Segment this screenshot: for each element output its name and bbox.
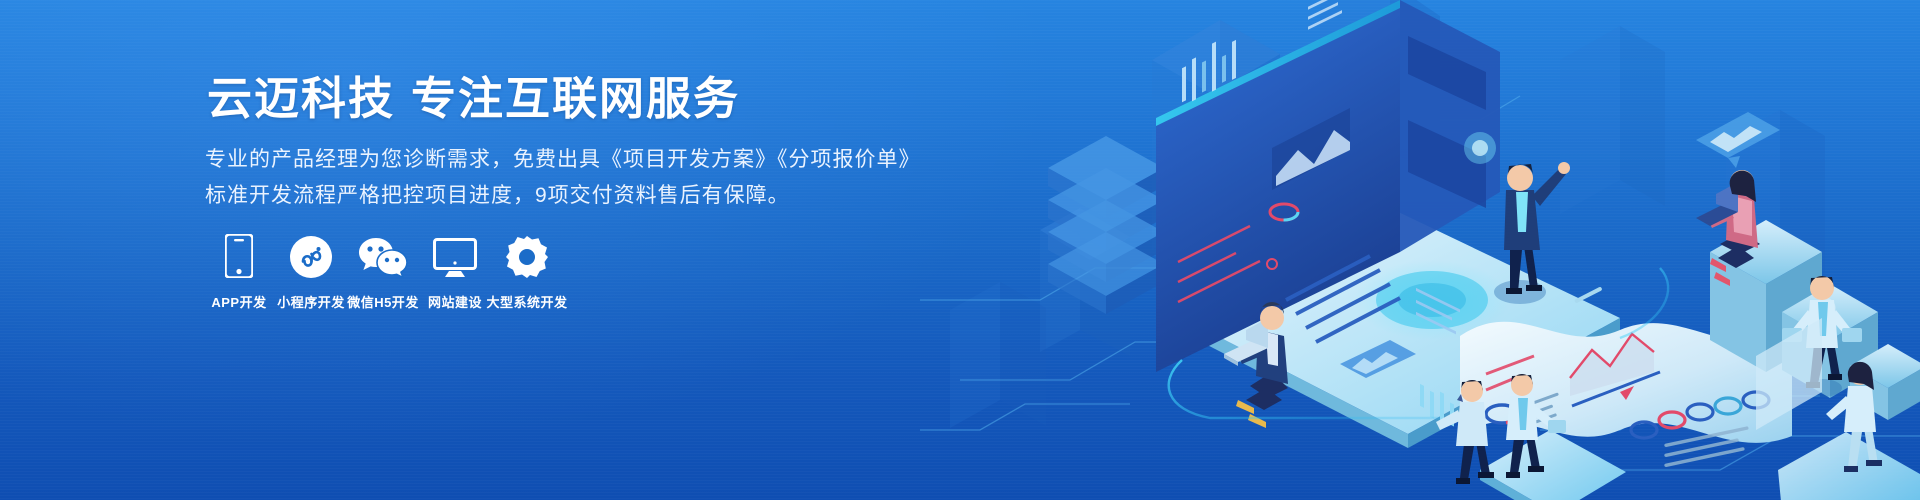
two-people-on-pad [1436, 374, 1626, 500]
stair-step-blocks [1710, 220, 1920, 420]
service-item-wechat-h5[interactable]: 微信H5开发 [347, 232, 419, 311]
headline-brand: 云迈科技 [207, 73, 395, 124]
background-circuit-lines [920, 96, 1920, 470]
service-label: 微信H5开发 [347, 292, 419, 311]
background-city-blocks [950, 0, 1825, 428]
service-list: APP开发 小程序开发 [203, 232, 563, 311]
banner-content: 云迈科技专注互联网服务 专业的产品经理为您诊断需求，免费出具《项目开发方案》《分… [203, 0, 923, 500]
platform-glow [1354, 260, 1510, 340]
service-label: 网站建设 [428, 292, 482, 311]
isometric-data-analytics-illustration [920, 0, 1920, 500]
tablet-platform [1178, 208, 1620, 448]
service-label: APP开发 [211, 292, 266, 311]
page-title: 云迈科技专注互联网服务 [207, 72, 740, 125]
wechat-icon [358, 232, 408, 278]
glow-connectors [1169, 268, 1668, 418]
chat-bubble-chart [1696, 112, 1780, 168]
chart-popup-left [1340, 340, 1416, 378]
seated-laptop-worker [1224, 256, 1400, 428]
gear-icon [506, 232, 548, 278]
mobile-phone-icon [225, 232, 253, 278]
service-item-website[interactable]: 网站建设 [419, 232, 491, 311]
code-screen-panel [1756, 0, 1822, 430]
service-label: 小程序开发 [277, 292, 345, 311]
service-label: 大型系统开发 [487, 292, 568, 311]
magnifier-icon [1816, 299, 1842, 320]
desktop-monitor-icon [433, 232, 477, 278]
standing-analyst [1494, 162, 1570, 304]
subtitle-line-1: 专业的产品经理为您诊断需求，免费出具《项目开发方案》《分项报价单》 [205, 144, 921, 176]
subtitle-line-2: 标准开发流程严格把控项目进度，9项交付资料售后有保障。 [205, 180, 790, 212]
service-item-large-system[interactable]: 大型系统开发 [491, 232, 563, 311]
man-with-briefcase [1782, 276, 1862, 397]
flowing-report-sheet [1460, 322, 1792, 468]
promo-banner: 云迈科技专注互联网服务 专业的产品经理为您诊断需求，免费出具《项目开发方案》《分… [0, 0, 1920, 500]
woman-at-screen [1778, 362, 1920, 500]
woman-on-block-with-laptop [1696, 170, 1760, 286]
mini-program-icon [290, 232, 332, 278]
service-item-app[interactable]: APP开发 [203, 232, 275, 311]
dashboard-screen [1156, 0, 1500, 433]
server-stack [1048, 136, 1164, 314]
headline-tagline: 专注互联网服务 [411, 73, 740, 124]
service-item-miniprogram[interactable]: 小程序开发 [275, 232, 347, 311]
